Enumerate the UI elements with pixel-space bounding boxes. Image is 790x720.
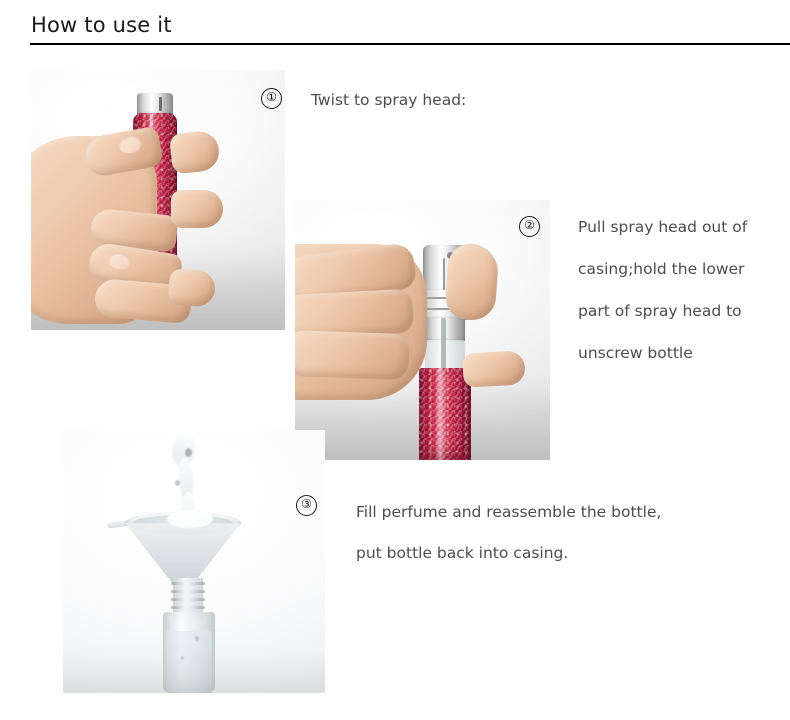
table-shadow <box>63 651 325 693</box>
splash-droplet-a <box>185 448 192 457</box>
knuckle-fold-3 <box>295 330 410 380</box>
caption-line: casing;hold the lower <box>578 248 747 290</box>
fingertip-mid <box>171 190 223 228</box>
caption-line: unscrew bottle <box>578 332 747 374</box>
step-1-scene <box>31 70 285 330</box>
title-divider <box>30 43 790 45</box>
glitter-bottle-body <box>419 368 471 460</box>
step-1-photo: ① <box>31 70 285 330</box>
caption-line: put bottle back into casing. <box>356 533 661 574</box>
step-1-caption: Twist to spray head: <box>311 90 466 110</box>
step-2-caption: Pull spray head out of casing;hold the l… <box>578 206 747 374</box>
step-2-scene <box>295 200 550 460</box>
step-badge-1: ① <box>261 88 282 109</box>
page-title: How to use it <box>31 12 172 38</box>
finger-index <box>462 350 526 387</box>
thread-ring-3 <box>171 598 205 601</box>
caption-line: Fill perfume and reassemble the bottle, <box>356 492 661 533</box>
cap-notch <box>159 97 162 111</box>
step-badge-2: ② <box>519 216 540 237</box>
step-badge-3: ③ <box>296 495 317 516</box>
step-3-caption: Fill perfume and reassemble the bottle, … <box>356 492 661 574</box>
thread-ring-1 <box>171 582 205 585</box>
step-3-photo: ③ <box>63 430 325 693</box>
spray-cap <box>137 93 173 115</box>
thread-ring-2 <box>171 590 205 593</box>
caption-line: Pull spray head out of <box>578 206 747 248</box>
splash-droplet-b <box>175 480 180 486</box>
bottle-highlight <box>438 368 443 460</box>
fingertip-lower <box>168 268 216 307</box>
spray-head-seam <box>443 258 445 290</box>
splash-in-funnel <box>167 510 213 528</box>
step-2-photo: ② <box>295 200 550 460</box>
bubble-1 <box>195 636 199 641</box>
thread-ring-4 <box>171 606 205 609</box>
dip-tube <box>441 318 446 374</box>
thumb <box>444 242 499 321</box>
caption-line: Twist to spray head: <box>311 90 466 110</box>
step-3-scene <box>63 430 325 693</box>
caption-line: part of spray head to <box>578 290 747 332</box>
